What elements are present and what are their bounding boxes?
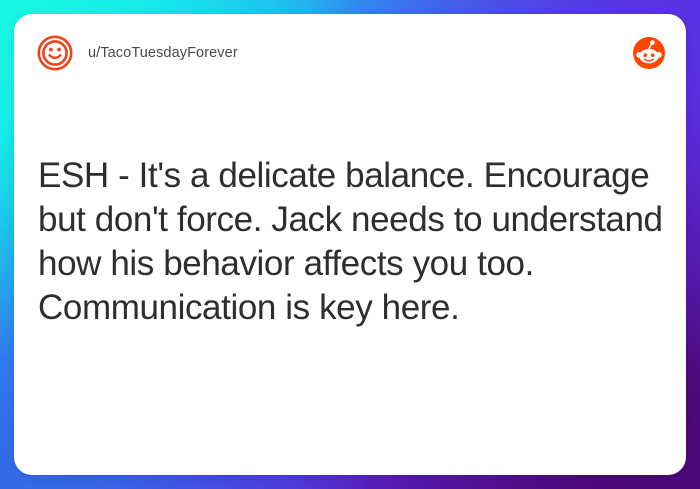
reddit-snoo-logo-icon[interactable]	[632, 36, 666, 70]
card-body: ESH - It's a delicate balance. Encourage…	[38, 154, 666, 330]
card-header: u/TacoTuesdayForever	[14, 14, 686, 92]
smiley-face-avatar-icon[interactable]	[36, 34, 74, 72]
username-label[interactable]: u/TacoTuesdayForever	[88, 45, 238, 61]
post-text: ESH - It's a delicate balance. Encourage…	[38, 154, 666, 330]
reddit-comment-card: u/TacoTuesdayForever ESH - It's a	[14, 14, 686, 475]
screenshot-canvas: u/TacoTuesdayForever ESH - It's a	[0, 0, 700, 489]
